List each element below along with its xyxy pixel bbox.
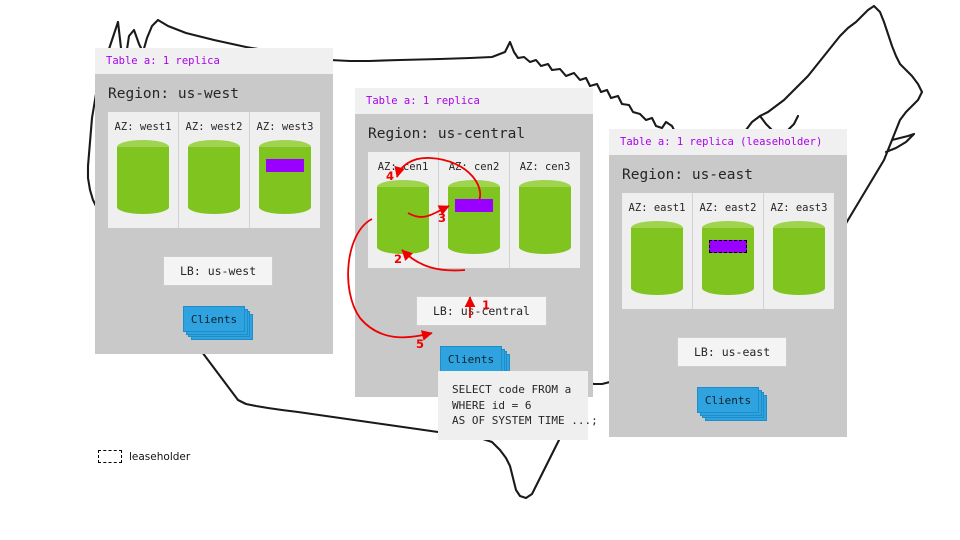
cylinder-body-icon	[188, 147, 240, 207]
az-west3[interactable]: AZ: west3	[250, 112, 320, 228]
az-row-us-east: AZ: east1 AZ: east2	[622, 193, 834, 309]
lb-us-west[interactable]: LB: us-west	[163, 256, 273, 286]
cylinder-cen1[interactable]	[377, 180, 429, 254]
cylinder-west3[interactable]	[259, 140, 311, 214]
region-body-us-east: Region: us-east AZ: east1 AZ: east2	[609, 155, 847, 437]
legend-leaseholder: leaseholder	[98, 450, 190, 463]
az-label-cen2: AZ: cen2	[439, 161, 509, 173]
az-row-us-central: AZ: cen1 AZ: cen2	[368, 152, 580, 268]
cylinder-body-icon	[117, 147, 169, 207]
region-header-us-west: Table a: 1 replica	[95, 48, 333, 74]
legend-label: leaseholder	[129, 451, 190, 463]
lb-us-central[interactable]: LB: us-central	[416, 296, 547, 326]
clients-us-west[interactable]: Clients	[183, 306, 245, 332]
cylinder-east1[interactable]	[631, 221, 683, 295]
sql-query-note: SELECT code FROM a WHERE id = 6 AS OF SY…	[438, 371, 588, 440]
az-west2[interactable]: AZ: west2	[179, 112, 250, 228]
cylinder-body-icon	[773, 228, 825, 288]
cylinder-east3[interactable]	[773, 221, 825, 295]
region-body-us-west: Region: us-west AZ: west1 AZ: west2	[95, 74, 333, 354]
az-west1[interactable]: AZ: west1	[108, 112, 179, 228]
az-east2[interactable]: AZ: east2	[693, 193, 764, 309]
clients-label-us-central: Clients	[440, 346, 502, 372]
cylinder-body-icon	[702, 228, 754, 288]
az-row-us-west: AZ: west1 AZ: west2 AZ	[108, 112, 320, 228]
region-header-us-central: Table a: 1 replica	[355, 88, 593, 114]
replica-bar-west3[interactable]	[266, 159, 304, 172]
cylinder-cen3[interactable]	[519, 180, 571, 254]
az-cen3[interactable]: AZ: cen3	[510, 152, 580, 268]
cylinder-cen2[interactable]	[448, 180, 500, 254]
region-header-us-east: Table a: 1 replica (leaseholder)	[609, 129, 847, 155]
az-label-cen3: AZ: cen3	[510, 161, 580, 173]
region-panel-us-east: Table a: 1 replica (leaseholder) Region:…	[609, 129, 847, 437]
clients-label-us-west: Clients	[183, 306, 245, 332]
cylinder-west2[interactable]	[188, 140, 240, 214]
cylinder-body-icon	[519, 187, 571, 247]
cylinder-body-icon	[631, 228, 683, 288]
az-cen1[interactable]: AZ: cen1	[368, 152, 439, 268]
cylinder-west1[interactable]	[117, 140, 169, 214]
az-cen2[interactable]: AZ: cen2	[439, 152, 510, 268]
cylinder-body-icon	[259, 147, 311, 207]
az-label-west1: AZ: west1	[108, 121, 178, 133]
region-panel-us-west: Table a: 1 replica Region: us-west AZ: w…	[95, 48, 333, 354]
az-label-west2: AZ: west2	[179, 121, 249, 133]
diagram-stage: Table a: 1 replica Region: us-west AZ: w…	[0, 0, 960, 540]
az-label-west3: AZ: west3	[250, 121, 320, 133]
region-title-us-east: Region: us-east	[609, 155, 847, 193]
clients-us-central[interactable]: Clients	[440, 346, 502, 372]
clients-us-east[interactable]: Clients	[697, 387, 759, 413]
region-title-us-central: Region: us-central	[355, 114, 593, 152]
az-label-east3: AZ: east3	[764, 202, 834, 214]
az-label-east2: AZ: east2	[693, 202, 763, 214]
dashed-rect-icon	[98, 450, 122, 463]
cylinder-body-icon	[448, 187, 500, 247]
clients-label-us-east: Clients	[697, 387, 759, 413]
az-east1[interactable]: AZ: east1	[622, 193, 693, 309]
replica-bar-east2-leaseholder[interactable]	[709, 240, 747, 253]
replica-bar-cen2[interactable]	[455, 199, 493, 212]
az-label-cen1: AZ: cen1	[368, 161, 438, 173]
region-panel-us-central: Table a: 1 replica Region: us-central AZ…	[355, 88, 593, 397]
az-label-east1: AZ: east1	[622, 202, 692, 214]
region-title-us-west: Region: us-west	[95, 74, 333, 112]
cylinder-east2[interactable]	[702, 221, 754, 295]
az-east3[interactable]: AZ: east3	[764, 193, 834, 309]
lb-us-east[interactable]: LB: us-east	[677, 337, 787, 367]
cylinder-body-icon	[377, 187, 429, 247]
region-body-us-central: Region: us-central AZ: cen1 AZ: cen2	[355, 114, 593, 397]
